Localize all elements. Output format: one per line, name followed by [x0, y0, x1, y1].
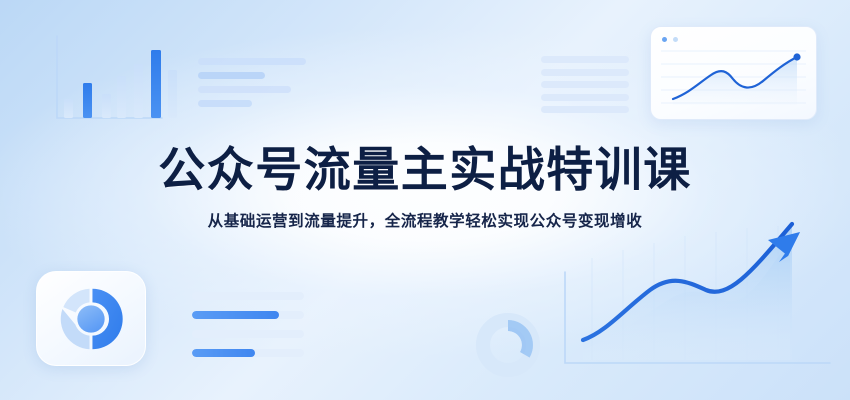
window-dot-icon: [662, 37, 667, 42]
progress-track: [192, 292, 304, 300]
top-right-text-lines: [541, 56, 629, 113]
bottom-progress-bars: [192, 292, 304, 357]
window-dots: [662, 37, 678, 42]
course-banner: 公众号流量主实战特训课 从基础运营到流量提升，全流程教学轻松实现公众号变现增收: [0, 0, 850, 400]
text-line: [198, 58, 306, 65]
page-title: 公众号流量主实战特训课: [0, 146, 850, 195]
line-chart-card: [650, 26, 817, 120]
donut-chart-icon: [52, 280, 130, 358]
progress-fill: [192, 349, 255, 357]
text-line: [541, 81, 629, 88]
mini-donut-decor: [483, 320, 533, 370]
top-left-text-lines: [198, 58, 306, 107]
donut-chart-card: [36, 271, 146, 366]
area-chart-decor: [565, 224, 830, 363]
text-line: [198, 100, 252, 107]
bar-chart-decor: [57, 36, 177, 118]
page-subtitle: 从基础运营到流量提升，全流程教学轻松实现公众号变现增收: [0, 209, 850, 231]
text-line: [541, 106, 629, 113]
text-line: [541, 56, 629, 63]
progress-track: [192, 330, 304, 338]
window-dot-icon: [673, 37, 678, 42]
progress-fill: [192, 311, 279, 319]
text-line: [541, 69, 629, 76]
text-line: [198, 72, 265, 79]
banner-text-block: 公众号流量主实战特训课 从基础运营到流量提升，全流程教学轻松实现公众号变现增收: [0, 146, 850, 231]
text-line: [198, 86, 291, 93]
text-line: [541, 94, 629, 101]
progress-track: [192, 349, 304, 357]
progress-track: [192, 311, 304, 319]
